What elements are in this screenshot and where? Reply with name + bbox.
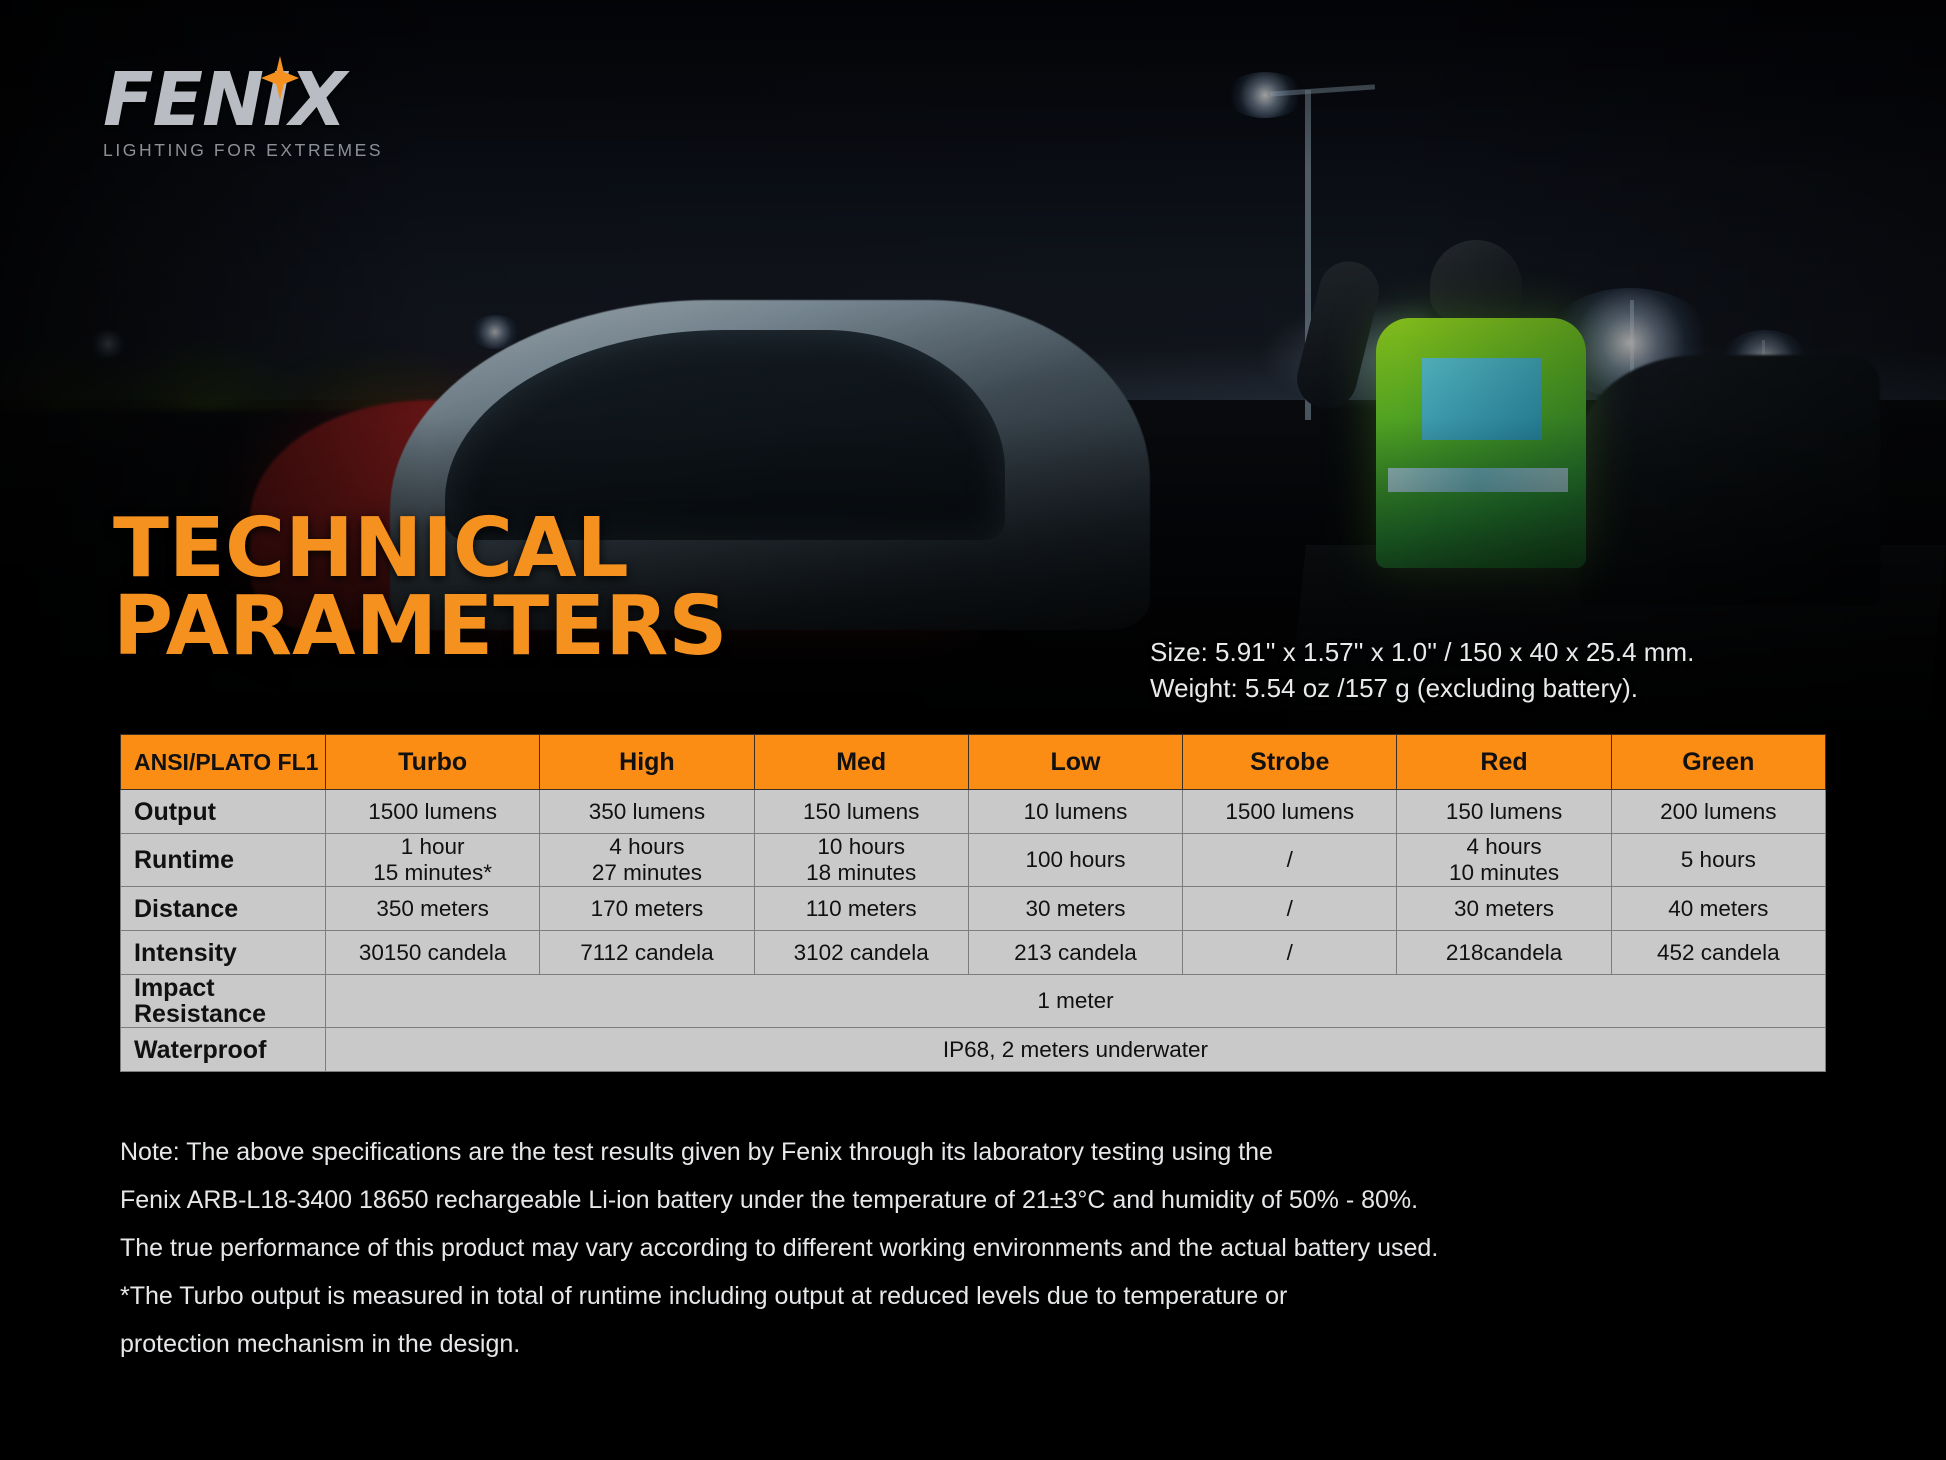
cell-intensity-low: 213 candela [968,931,1182,975]
cell-distance-med: 110 meters [754,887,968,931]
header-mode-high: High [540,735,754,790]
table-row-runtime: Runtime 1 hour 15 minutes* 4 hours 27 mi… [121,834,1826,887]
header-mode-low: Low [968,735,1182,790]
cell-intensity-strobe: / [1183,931,1397,975]
row-label-impact-resistance: Impact Resistance [121,975,326,1028]
logo-wordmark: FENIX [103,62,433,138]
cell-distance-red: 30 meters [1397,887,1611,931]
cell-runtime-green: 5 hours [1611,834,1825,887]
cell-distance-turbo: 350 meters [326,887,540,931]
footnote-line-1: Note: The above specifications are the t… [120,1128,1820,1176]
cell-runtime-strobe: / [1183,834,1397,887]
table-header-row: ANSI/PLATO FL1 Turbo High Med Low Strobe… [121,735,1826,790]
row-label-intensity: Intensity [121,931,326,975]
size-text: Size: 5.91'' x 1.57'' x 1.0'' / 150 x 40… [1150,634,1694,670]
cell-intensity-red: 218candela [1397,931,1611,975]
cell-intensity-med: 3102 candela [754,931,968,975]
cell-intensity-turbo: 30150 candela [326,931,540,975]
header-mode-med: Med [754,735,968,790]
cell-distance-high: 170 meters [540,887,754,931]
header-mode-turbo: Turbo [326,735,540,790]
header-mode-strobe: Strobe [1183,735,1397,790]
logo-tagline: LIGHTING FOR EXTREMES [103,140,433,161]
footnote-line-5: protection mechanism in the design. [120,1320,1820,1368]
footnote-line-3: The true performance of this product may… [120,1224,1820,1272]
page-title-line2: PARAMETERS [113,588,727,666]
weight-text: Weight: 5.54 oz /157 g (excluding batter… [1150,670,1694,706]
cell-runtime-turbo: 1 hour 15 minutes* [326,834,540,887]
cell-waterproof-value: IP68, 2 meters underwater [326,1028,1826,1072]
cell-output-high: 350 lumens [540,790,754,834]
cell-runtime-red: 4 hours 10 minutes [1397,834,1611,887]
row-label-output: Output [121,790,326,834]
header-mode-red: Red [1397,735,1611,790]
footnote-block: Note: The above specifications are the t… [120,1128,1820,1368]
cell-impact-resistance-value: 1 meter [326,975,1826,1028]
table-row-intensity: Intensity 30150 candela 7112 candela 310… [121,931,1826,975]
table-row-output: Output 1500 lumens 350 lumens 150 lumens… [121,790,1826,834]
cell-output-med: 150 lumens [754,790,968,834]
page-title: TECHNICAL PARAMETERS [113,510,727,666]
cell-distance-green: 40 meters [1611,887,1825,931]
cell-runtime-low: 100 hours [968,834,1182,887]
cell-distance-strobe: / [1183,887,1397,931]
row-label-distance: Distance [121,887,326,931]
cell-output-turbo: 1500 lumens [326,790,540,834]
technical-parameters-table: ANSI/PLATO FL1 Turbo High Med Low Strobe… [120,734,1826,1072]
header-standard: ANSI/PLATO FL1 [121,735,326,790]
header-mode-green: Green [1611,735,1825,790]
page-title-line1: TECHNICAL [113,510,727,588]
cell-intensity-green: 452 candela [1611,931,1825,975]
row-label-runtime: Runtime [121,834,326,887]
table-row-distance: Distance 350 meters 170 meters 110 meter… [121,887,1826,931]
cell-output-green: 200 lumens [1611,790,1825,834]
cell-intensity-high: 7112 candela [540,931,754,975]
cell-output-strobe: 1500 lumens [1183,790,1397,834]
cell-runtime-high: 4 hours 27 minutes [540,834,754,887]
table-row-waterproof: Waterproof IP68, 2 meters underwater [121,1028,1826,1072]
cell-output-low: 10 lumens [968,790,1182,834]
footnote-line-2: Fenix ARB-L18-3400 18650 rechargeable Li… [120,1176,1820,1224]
dimensions-block: Size: 5.91'' x 1.57'' x 1.0'' / 150 x 40… [1150,634,1694,706]
footnote-line-4: *The Turbo output is measured in total o… [120,1272,1820,1320]
row-label-waterproof: Waterproof [121,1028,326,1072]
table-row-impact-resistance: Impact Resistance 1 meter [121,975,1826,1028]
cell-distance-low: 30 meters [968,887,1182,931]
fenix-logo: FENIX LIGHTING FOR EXTREMES [103,62,433,167]
cell-output-red: 150 lumens [1397,790,1611,834]
cell-runtime-med: 10 hours 18 minutes [754,834,968,887]
